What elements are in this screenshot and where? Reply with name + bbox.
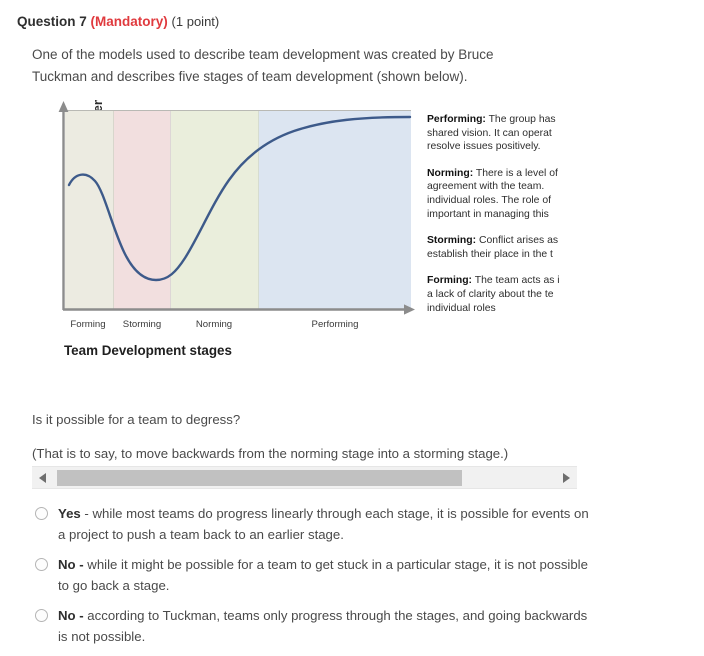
description-storming-line1: Conflict arises as xyxy=(476,235,558,246)
question-header: Question 7 (Mandatory) (1 point) xyxy=(17,13,219,31)
description-norming-line1: There is a level of xyxy=(473,168,558,179)
description-forming-line3: individual roles xyxy=(427,302,579,316)
description-performing: Performing: The group has shared vision.… xyxy=(427,113,579,154)
answer-option-1-lead: Yes xyxy=(58,506,81,521)
stage-descriptions: Performing: The group has shared vision.… xyxy=(427,113,579,343)
description-performing-lead: Performing: xyxy=(427,114,486,125)
question-intro-text: One of the models used to describe team … xyxy=(32,44,532,88)
band-norming xyxy=(171,110,258,310)
chart-x-axis-title: Team Development stages xyxy=(64,343,232,358)
description-storming: Storming: Conflict arises as establish t… xyxy=(427,234,579,261)
team-development-chart xyxy=(32,100,452,325)
description-performing-line2: shared vision. It can operat xyxy=(427,127,579,141)
scrollbar-thumb[interactable] xyxy=(57,470,462,486)
description-storming-lead: Storming: xyxy=(427,235,476,246)
description-forming-lead: Forming: xyxy=(427,275,472,286)
description-norming-line2: agreement with the team. xyxy=(427,180,579,194)
answer-option-3[interactable]: No - according to Tuckman, teams only pr… xyxy=(32,605,592,647)
answer-option-3-text: according to Tuckman, teams only progres… xyxy=(58,608,587,644)
x-tick-forming: Forming xyxy=(70,319,105,330)
radio-button-2[interactable] xyxy=(35,558,48,571)
radio-button-3[interactable] xyxy=(35,609,48,622)
radio-button-1[interactable] xyxy=(35,507,48,520)
scroll-right-arrow-icon[interactable] xyxy=(558,467,575,488)
x-tick-performing: Performing xyxy=(312,319,359,330)
answer-option-1-text: - while most teams do progress linearly … xyxy=(58,506,589,542)
description-performing-line1: The group has xyxy=(486,114,556,125)
description-forming-line2: a lack of clarity about the te xyxy=(427,288,579,302)
followup-clarification: (That is to say, to move backwards from … xyxy=(32,445,508,463)
description-norming-line3: individual roles. The role of xyxy=(427,194,579,208)
mandatory-flag: (Mandatory) xyxy=(91,14,168,29)
x-tick-norming: Norming xyxy=(196,319,232,330)
band-forming xyxy=(65,110,113,310)
answer-option-3-lead: No - xyxy=(58,608,84,623)
description-forming: Forming: The team acts as i a lack of cl… xyxy=(427,274,579,315)
scroll-left-arrow-icon[interactable] xyxy=(34,467,51,488)
points-label: (1 point) xyxy=(172,14,220,29)
description-norming-lead: Norming: xyxy=(427,168,473,179)
followup-question: Is it possible for a team to degress? xyxy=(32,411,240,429)
answer-option-2-text: while it might be possible for a team to… xyxy=(58,557,588,593)
question-number: Question 7 xyxy=(17,14,87,29)
description-norming: Norming: There is a level of agreement w… xyxy=(427,167,579,221)
description-performing-line3: resolve issues positively. xyxy=(427,140,579,154)
tuckman-figure: Team Effectiveness Forming Storming Norm… xyxy=(32,100,580,370)
answer-option-2-lead: No - xyxy=(58,557,84,572)
answer-options: Yes - while most teams do progress linea… xyxy=(32,503,592,656)
description-norming-line4: important in managing this xyxy=(427,208,579,222)
band-performing xyxy=(259,110,411,310)
x-tick-storming: Storming xyxy=(123,319,161,330)
answer-option-1[interactable]: Yes - while most teams do progress linea… xyxy=(32,503,592,545)
description-storming-line2: establish their place in the t xyxy=(427,248,579,262)
description-forming-line1: The team acts as i xyxy=(472,275,560,286)
horizontal-scrollbar[interactable] xyxy=(32,466,577,489)
answer-option-2[interactable]: No - while it might be possible for a te… xyxy=(32,554,592,596)
